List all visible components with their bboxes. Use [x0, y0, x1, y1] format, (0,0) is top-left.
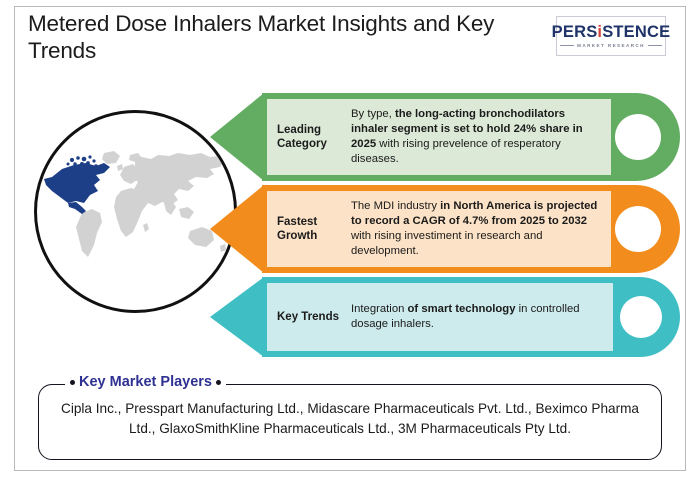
pill-hole-leading-category	[615, 114, 661, 160]
logo-word-before: PERS	[552, 23, 598, 41]
insight-row-leading-category: Leading Category By type, the long-actin…	[210, 93, 680, 181]
category-label-leading-category: Leading Category	[267, 123, 351, 151]
page-title: Metered Dose Inhalers Market Insights an…	[28, 10, 548, 64]
card-leading-category: Leading Category By type, the long-actin…	[266, 98, 612, 176]
arrow-leading-category	[210, 93, 264, 181]
logo-word-after: STENCE	[602, 23, 670, 41]
description-leading-category: By type, the long-acting bronchodilators…	[351, 107, 611, 168]
central-america-shape	[68, 202, 86, 214]
pill-leading-category: Leading Category By type, the long-actin…	[262, 93, 680, 181]
greenland-shape	[102, 151, 120, 164]
pill-hole-key-trends	[620, 296, 662, 338]
category-label-fastest-growth: Fastest Growth	[267, 215, 351, 243]
south-asia-shape	[164, 201, 176, 215]
logo-rule-left	[560, 45, 574, 46]
madagascar-shape	[143, 223, 149, 232]
infographic-page: Metered Dose Inhalers Market Insights an…	[0, 0, 700, 477]
bullet-dot-right-icon	[216, 380, 221, 385]
southeast-asia-shape	[179, 207, 194, 219]
pill-key-trends: Key Trends Integration of smart technolo…	[262, 277, 680, 357]
world-map-circle	[34, 110, 237, 313]
insight-row-key-trends: Key Trends Integration of smart technolo…	[210, 277, 680, 357]
description-key-trends: Integration of smart technology in contr…	[351, 302, 613, 332]
key-market-players-box: Key Market Players Cipla Inc., Presspart…	[38, 384, 662, 460]
pill-hole-fastest-growth	[615, 206, 661, 252]
logo-tagline-row: MARKET RESEARCH	[560, 43, 662, 48]
key-market-players-label: Key Market Players	[79, 374, 212, 390]
description-fastest-growth: The MDI industry in North America is pro…	[351, 199, 611, 260]
arrow-key-trends	[210, 277, 264, 357]
card-fastest-growth: Fastest Growth The MDI industry in North…	[266, 190, 612, 268]
arrow-fastest-growth	[210, 185, 264, 273]
key-market-players-list: Cipla Inc., Presspart Manufacturing Ltd.…	[53, 399, 647, 438]
key-market-players-label-wrap: Key Market Players	[65, 374, 226, 390]
logo-tagline: MARKET RESEARCH	[577, 43, 645, 48]
south-america-shape	[76, 209, 102, 257]
logo-rule-right	[648, 45, 662, 46]
pill-fastest-growth: Fastest Growth The MDI industry in North…	[262, 185, 680, 273]
persistence-market-research-logo: PERSiSTENCE MARKET RESEARCH	[556, 16, 666, 56]
card-key-trends: Key Trends Integration of smart technolo…	[266, 282, 614, 352]
logo-wordmark: PERSiSTENCE	[552, 24, 671, 41]
header: Metered Dose Inhalers Market Insights an…	[28, 10, 668, 70]
category-label-key-trends: Key Trends	[267, 310, 351, 324]
insight-row-fastest-growth: Fastest Growth The MDI industry in North…	[210, 185, 680, 273]
world-map-svg	[38, 147, 234, 277]
uk-shape	[117, 164, 123, 171]
bullet-dot-left-icon	[70, 380, 75, 385]
